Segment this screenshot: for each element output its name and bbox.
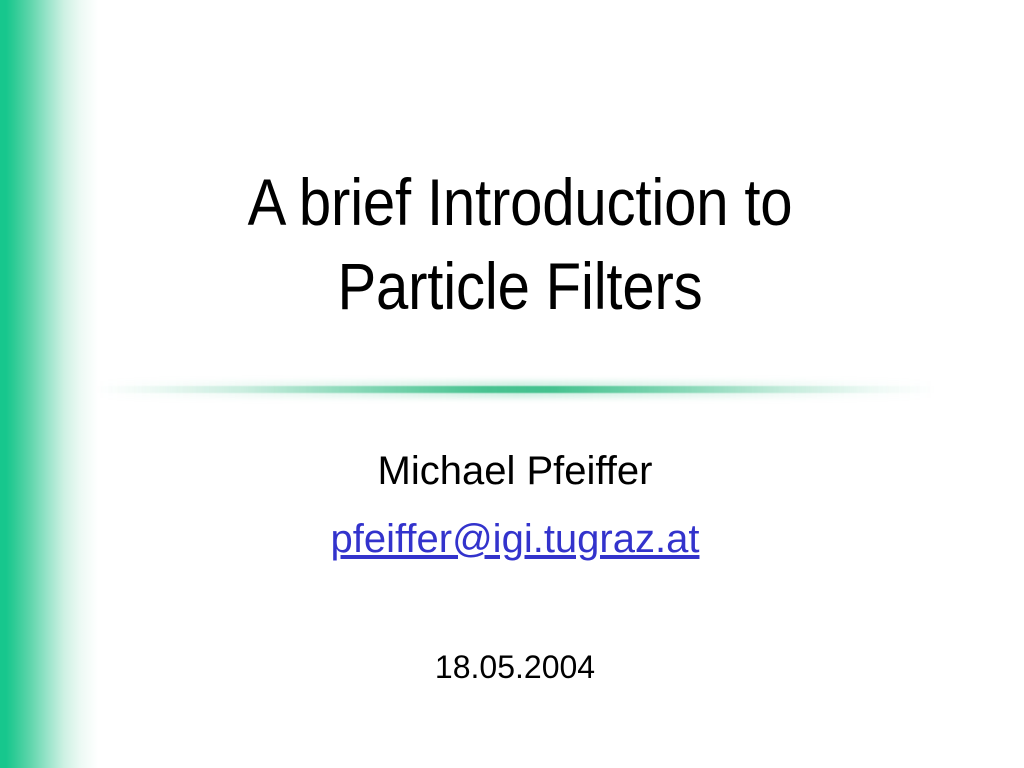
email-line: pfeiffer@igi.tugraz.at	[100, 506, 930, 572]
presentation-date: 18.05.2004	[100, 634, 930, 700]
email-link[interactable]: pfeiffer@igi.tugraz.at	[331, 517, 700, 561]
title-divider	[96, 376, 936, 402]
left-green-gradient-stripe	[0, 0, 100, 768]
author-name: Michael Pfeiffer	[100, 438, 930, 504]
slide-title: A brief Introduction to Particle Filters	[150, 160, 889, 328]
subtitle-block: Michael Pfeiffer pfeiffer@igi.tugraz.at …	[100, 438, 930, 700]
divider-line	[96, 386, 936, 393]
slide-canvas: A brief Introduction to Particle Filters…	[0, 0, 1024, 768]
